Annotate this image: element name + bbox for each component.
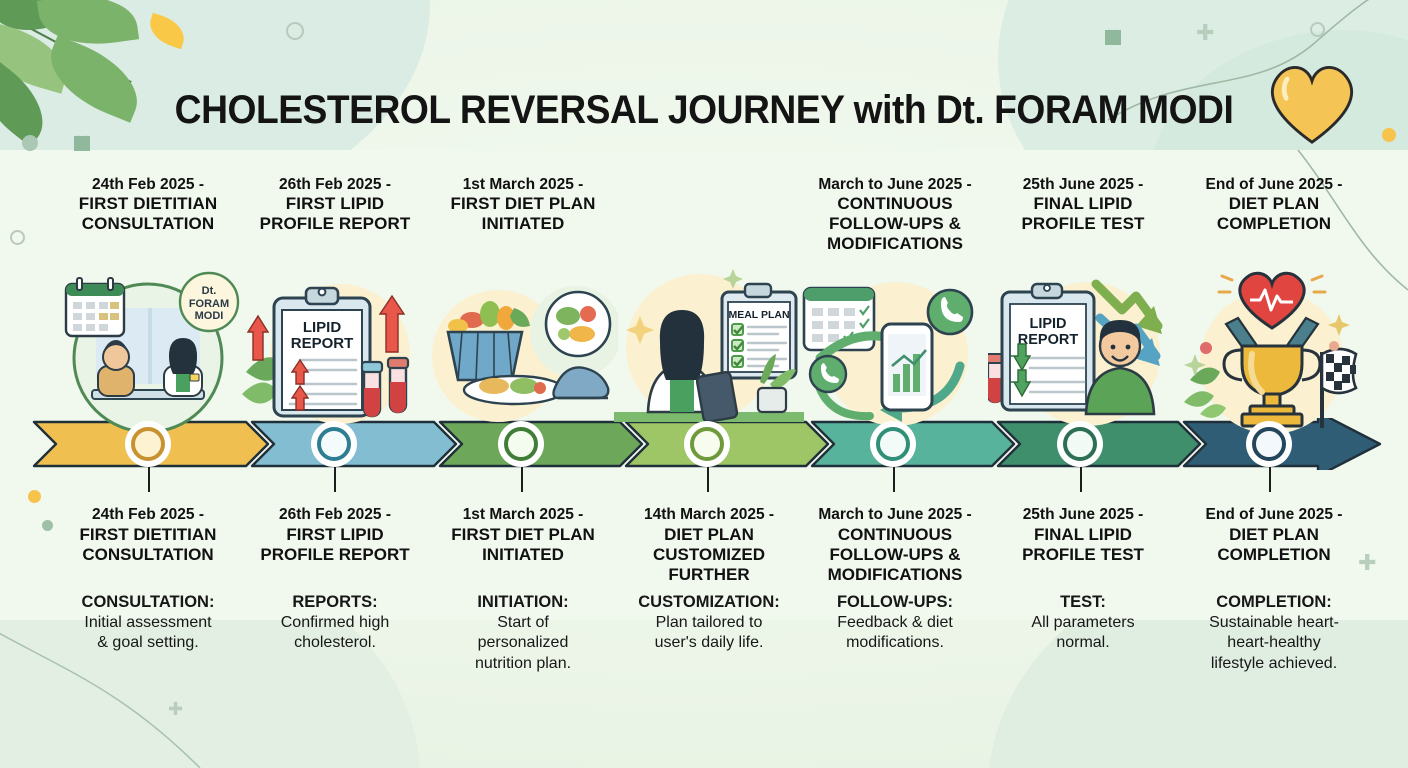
node-stick (1080, 462, 1082, 492)
step-3-desc-head: INITIATION: (428, 592, 618, 613)
step-6-description: TEST: All parameters normal. (988, 592, 1178, 654)
step-1-top-label: 24th Feb 2025 - FIRST DIETITIAN CONSULTA… (52, 176, 244, 234)
clipboard-title-line2: REPORT (291, 335, 354, 352)
step-7-bottom-date: End of June 2025 - (1176, 506, 1372, 525)
step-1-bottom-label: 24th Feb 2025 - FIRST DIETITIAN CONSULTA… (52, 506, 244, 565)
step-2-bottom-label: 26th Feb 2025 - FIRST LIPID PROFILE REPO… (240, 506, 430, 565)
step-1-top-title: FIRST DIETITIAN CONSULTATION (52, 194, 244, 234)
step-3-bottom-label: 1st March 2025 - FIRST DIET PLAN INITIAT… (428, 506, 618, 565)
node-stick (1269, 462, 1271, 492)
step-7-desc-head: COMPLETION: (1176, 592, 1372, 613)
timeline-node-5[interactable] (873, 424, 913, 464)
step-2-description: REPORTS: Confirmed high cholesterol. (240, 592, 430, 654)
step-6-top-title: FINAL LIPID PROFILE TEST (988, 194, 1178, 234)
step-3-top-date: 1st March 2025 - (428, 176, 618, 194)
step-1-top-date: 24th Feb 2025 - (52, 176, 244, 194)
timeline-step-7: End of June 2025 - DIET PLAN COMPLETION (1176, 0, 1372, 768)
step-1-illustration: Dt. FORAM MODI (52, 262, 244, 434)
node-stick (521, 462, 523, 492)
step-5-top-label: March to June 2025 - CONTINUOUS FOLLOW-U… (800, 176, 990, 254)
step-2-bottom-title: FIRST LIPID PROFILE REPORT (240, 525, 430, 566)
timeline-node-1[interactable] (128, 424, 168, 464)
step-3-desc-body: Start of personalized nutrition plan. (428, 613, 618, 674)
step-2-top-date: 26th Feb 2025 - (240, 176, 430, 194)
node-stick (148, 462, 150, 492)
timeline-node-3[interactable] (501, 424, 541, 464)
step-6-bottom-date: 25th June 2025 - (988, 506, 1178, 525)
timeline-node-6[interactable] (1060, 424, 1100, 464)
timeline-node-4[interactable] (687, 424, 727, 464)
badge-line-3: MODI (195, 310, 224, 322)
step-5-description: FOLLOW-UPS: Feedback & diet modification… (800, 592, 990, 654)
step-7-bottom-label: End of June 2025 - DIET PLAN COMPLETION (1176, 506, 1372, 565)
step-6-illustration: LIPID REPORT (988, 262, 1178, 434)
step-6-bottom-title: FINAL LIPID PROFILE TEST (988, 525, 1178, 566)
step-3-top-title: FIRST DIET PLAN INITIATED (428, 194, 618, 234)
step-7-bottom-title: DIET PLAN COMPLETION (1176, 525, 1372, 566)
step-7-desc-body: Sustainable heart- heart-healthy lifesty… (1176, 613, 1372, 674)
step-1-bottom-title: FIRST DIETITIAN CONSULTATION (52, 525, 244, 566)
step-3-top-label: 1st March 2025 - FIRST DIET PLAN INITIAT… (428, 176, 618, 234)
timeline-step-4: MEAL PLAN (614, 0, 804, 768)
step-3-description: INITIATION: Start of personalized nutrit… (428, 592, 618, 674)
step-2-bottom-date: 26th Feb 2025 - (240, 506, 430, 525)
step-4-desc-body: Plan tailored to user's daily life. (614, 613, 804, 654)
timeline-node-7[interactable] (1249, 424, 1289, 464)
step-1-description: CONSULTATION: Initial assessment & goal … (52, 592, 244, 654)
badge-line-2: FORAM (189, 298, 229, 310)
step-4-bottom-title: DIET PLAN CUSTOMIZED FURTHER (614, 525, 804, 586)
step-5-desc-body: Feedback & diet modifications. (800, 613, 990, 654)
timeline-step-5: March to June 2025 - CONTINUOUS FOLLOW-U… (800, 0, 990, 768)
step-6-desc-head: TEST: (988, 592, 1178, 613)
step-2-top-title: FIRST LIPID PROFILE REPORT (240, 194, 430, 234)
step-7-top-label: End of June 2025 - DIET PLAN COMPLETION (1176, 176, 1372, 234)
step-5-bottom-title: CONTINUOUS FOLLOW-UPS & MODIFICATIONS (800, 525, 990, 586)
timeline-columns: 24th Feb 2025 - FIRST DIETITIAN CONSULTA… (0, 0, 1408, 768)
step-3-illustration (428, 262, 618, 434)
step-4-bottom-date: 14th March 2025 - (614, 506, 804, 525)
step-6-top-date: 25th June 2025 - (988, 176, 1178, 194)
node-stick (893, 462, 895, 492)
node-stick (707, 462, 709, 492)
clipboard-title-line1: LIPID (303, 319, 342, 336)
step-5-top-date: March to June 2025 - (800, 176, 990, 194)
timeline-step-6: 25th June 2025 - FINAL LIPID PROFILE TES… (988, 0, 1178, 768)
final-clipboard-line1: LIPID (1029, 316, 1066, 332)
meal-plan-title: MEAL PLAN (728, 309, 789, 321)
step-5-top-title: CONTINUOUS FOLLOW-UPS & MODIFICATIONS (800, 194, 990, 254)
step-7-top-title: DIET PLAN COMPLETION (1176, 194, 1372, 234)
badge-line-1: Dt. (202, 285, 217, 297)
step-6-desc-body: All parameters normal. (988, 613, 1178, 654)
step-5-bottom-date: March to June 2025 - (800, 506, 990, 525)
step-6-top-label: 25th June 2025 - FINAL LIPID PROFILE TES… (988, 176, 1178, 234)
step-4-description: CUSTOMIZATION: Plan tailored to user's d… (614, 592, 804, 654)
step-7-top-date: End of June 2025 - (1176, 176, 1372, 194)
final-clipboard-line2: REPORT (1018, 332, 1079, 348)
step-2-illustration: LIPID REPORT (240, 262, 430, 434)
step-5-desc-head: FOLLOW-UPS: (800, 592, 990, 613)
timeline-step-2: 26th Feb 2025 - FIRST LIPID PROFILE REPO… (240, 0, 430, 768)
timeline-step-1: 24th Feb 2025 - FIRST DIETITIAN CONSULTA… (52, 0, 244, 768)
step-3-bottom-date: 1st March 2025 - (428, 506, 618, 525)
step-4-bottom-label: 14th March 2025 - DIET PLAN CUSTOMIZED F… (614, 506, 804, 586)
step-2-desc-body: Confirmed high cholesterol. (240, 613, 430, 654)
step-7-description: COMPLETION: Sustainable heart- heart-hea… (1176, 592, 1372, 674)
step-1-desc-body: Initial assessment & goal setting. (52, 613, 244, 654)
step-3-bottom-title: FIRST DIET PLAN INITIATED (428, 525, 618, 566)
step-6-bottom-label: 25th June 2025 - FINAL LIPID PROFILE TES… (988, 506, 1178, 565)
step-2-top-label: 26th Feb 2025 - FIRST LIPID PROFILE REPO… (240, 176, 430, 234)
step-5-illustration (800, 262, 990, 434)
step-1-bottom-date: 24th Feb 2025 - (52, 506, 244, 525)
step-5-bottom-label: March to June 2025 - CONTINUOUS FOLLOW-U… (800, 506, 990, 586)
step-4-illustration: MEAL PLAN (614, 262, 804, 434)
step-7-illustration (1176, 262, 1372, 434)
timeline-step-3: 1st March 2025 - FIRST DIET PLAN INITIAT… (428, 0, 618, 768)
step-4-desc-head: CUSTOMIZATION: (614, 592, 804, 613)
infographic-canvas: ✚ ✚ ✚ CHOLESTEROL REVERSAL JOURNEY with … (0, 0, 1408, 768)
node-stick (334, 462, 336, 492)
step-1-desc-head: CONSULTATION: (52, 592, 244, 613)
timeline-node-2[interactable] (314, 424, 354, 464)
step-2-desc-head: REPORTS: (240, 592, 430, 613)
